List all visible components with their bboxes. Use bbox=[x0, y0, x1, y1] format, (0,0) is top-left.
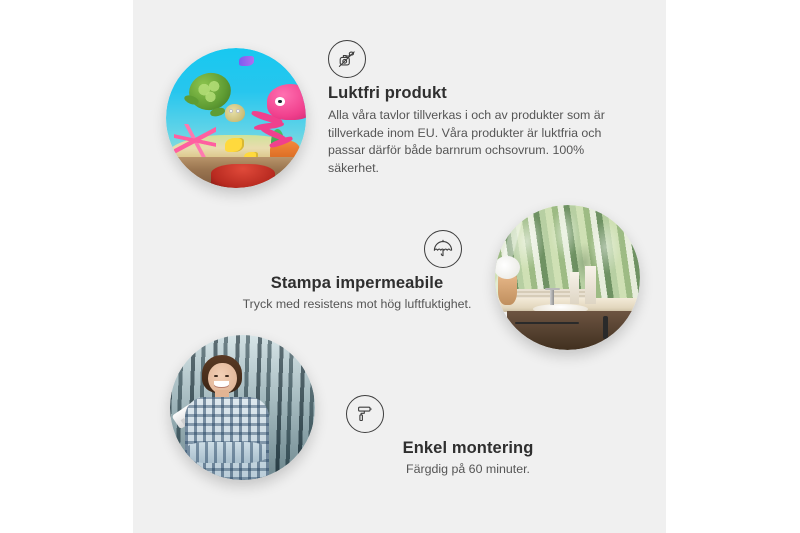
botanical-wallpaper bbox=[495, 205, 640, 301]
icon-row bbox=[211, 230, 503, 274]
turtle-head bbox=[225, 104, 245, 121]
feature-description: Tryck med resistens mot hög luftfuktighe… bbox=[211, 296, 503, 314]
woman-scene bbox=[170, 335, 315, 480]
yellow-fish bbox=[225, 138, 245, 152]
feature-title: Stampa impermeabile bbox=[211, 274, 503, 293]
pink-coral bbox=[174, 124, 216, 158]
red-furniture bbox=[211, 164, 275, 188]
toiletry-bottle bbox=[585, 266, 597, 304]
screenshot-stage: Luktfri produkt Alla våra tavlor tillver… bbox=[0, 0, 800, 533]
feature-panel: Luktfri produkt Alla våra tavlor tillver… bbox=[133, 0, 666, 533]
no-fragrance-icon bbox=[328, 40, 366, 78]
feature-title: Enkel montering bbox=[323, 439, 613, 458]
sea-turtle bbox=[184, 73, 243, 123]
paint-roller-icon bbox=[346, 395, 384, 433]
feature-waterproof-print: Stampa impermeabile Tryck med resistens … bbox=[211, 230, 503, 314]
feature-description: Färgdig på 60 minuter. bbox=[323, 461, 613, 479]
feature-odour-free: Luktfri produkt Alla våra tavlor tillver… bbox=[328, 40, 628, 177]
image-underwater-kids-wallpaper[interactable] bbox=[166, 48, 306, 188]
umbrella-icon bbox=[424, 230, 462, 268]
image-bathroom-botanical-wallpaper[interactable] bbox=[495, 205, 640, 350]
faucet bbox=[550, 288, 554, 305]
feature-title: Luktfri produkt bbox=[328, 84, 628, 103]
woman-plaid-shirt bbox=[185, 397, 269, 480]
feature-easy-mounting: Enkel montering Färgdig på 60 minuter. bbox=[323, 395, 613, 479]
image-woman-paint-roller-forest-wallpaper[interactable] bbox=[170, 335, 315, 480]
pink-octopus bbox=[250, 84, 306, 146]
underwater-scene bbox=[166, 48, 306, 188]
octopus-head bbox=[267, 84, 306, 120]
bathroom-scene bbox=[495, 205, 640, 350]
woman-crossed-arms bbox=[187, 442, 265, 462]
vanity-cabinet bbox=[507, 311, 640, 350]
toiletry-bottle bbox=[570, 272, 579, 304]
octopus-eye bbox=[275, 97, 285, 106]
feature-description: Alla våra tavlor tillverkas i och av pro… bbox=[328, 107, 628, 177]
